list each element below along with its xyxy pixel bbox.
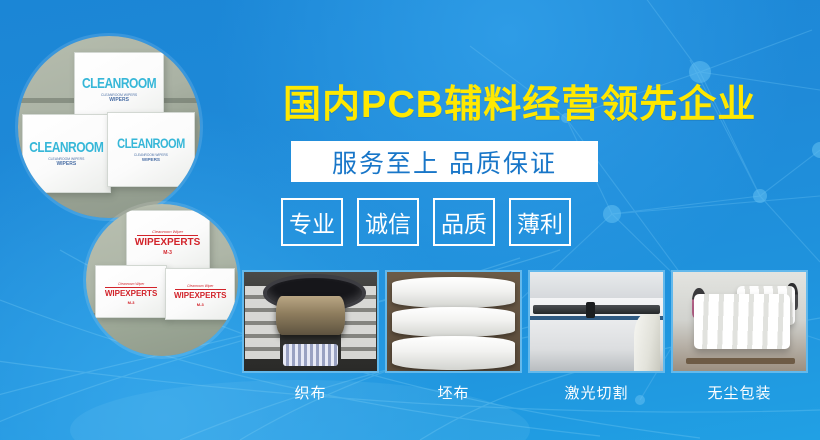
- pack-sub-label: Cleanroom Wiper: [118, 282, 144, 286]
- keyword-tag-zhuanye: 专业: [281, 198, 343, 246]
- banner-subtitle-bar: 服务至上 品质保证: [291, 141, 598, 182]
- fabric-roll: [392, 277, 514, 308]
- keyword-tag-pinzhi: 品质: [433, 198, 495, 246]
- pack-brand-label: WIPEXPERTS: [135, 237, 201, 248]
- wipe-pack: Cleanroom Wiper WIPEXPERTS M-3: [126, 210, 210, 273]
- fabric-roll: [392, 336, 514, 370]
- promo-banner: CLEANROOM CLEANROOM WIPERS WIPERS CLEANR…: [0, 0, 820, 440]
- cleanroom-packing-icon: [671, 270, 808, 373]
- keyword-tag-chengxin: 诚信: [357, 198, 419, 246]
- packed-bales-front: [694, 294, 790, 349]
- knitting-machine-icon: [242, 270, 379, 373]
- pack-rule: [137, 235, 198, 236]
- wipe-pack: CLEANROOM CLEANROOM WIPERS WIPERS: [22, 114, 111, 192]
- process-thumb-caption: 织布: [294, 382, 326, 403]
- keyword-tag-label: 诚信: [365, 205, 411, 239]
- laser-room-wall: [530, 272, 663, 298]
- pack-sub2-label: WIPERS: [56, 161, 76, 167]
- process-thumb-packing: 无尘包装: [671, 270, 808, 403]
- wipe-pack: Cleanroom Wiper WIPEXPERTS M-3: [95, 265, 167, 319]
- pack-brand-label: CLEANROOM: [29, 138, 103, 156]
- pack-sub-label: Cleanroom Wiper: [187, 284, 213, 288]
- knit-fabric-glow: [283, 344, 339, 366]
- fabric-roll: [392, 307, 514, 338]
- pack-sub-label: Cleanroom Wiper: [152, 229, 183, 234]
- laser-head: [586, 302, 595, 318]
- keyword-tag-label: 品质: [441, 205, 487, 239]
- laser-cutter-icon: [528, 270, 665, 373]
- pack-stamp-label: M-3: [163, 250, 172, 256]
- pack-brand-label: CLEANROOM: [117, 136, 185, 151]
- work-bench: [686, 358, 795, 364]
- keyword-tag-list: 专业 诚信 品质 薄利: [281, 198, 571, 246]
- pack-sub2-label: WIPERS: [142, 157, 160, 162]
- process-thumb-greige: 坯布: [385, 270, 522, 403]
- banner-subtitle: 服务至上 品质保证: [332, 144, 557, 180]
- pack-brand-label: CLEANROOM: [82, 75, 156, 93]
- pack-brand-label: WIPEXPERTS: [105, 289, 157, 298]
- pack-sub2-label: WIPERS: [109, 97, 129, 103]
- wipe-pack: Cleanroom Wiper WIPEXPERTS M-3: [165, 268, 235, 320]
- product-photo-wipexperts: Cleanroom Wiper WIPEXPERTS M-3 Cleanroom…: [86, 204, 238, 356]
- fabric-rolls-icon: [385, 270, 522, 373]
- pack-rule: [175, 289, 226, 290]
- wipe-pack: CLEANROOM CLEANROOM WIPERS WIPERS: [107, 112, 195, 187]
- pack-brand-label: WIPEXPERTS: [174, 291, 226, 300]
- process-thumb-caption: 坯布: [437, 382, 469, 403]
- product-photo-cleanroom: CLEANROOM CLEANROOM WIPERS WIPERS CLEANR…: [18, 36, 200, 218]
- process-thumb-laser: 激光切割: [528, 270, 665, 403]
- material-roll: [634, 314, 661, 371]
- process-thumb-caption: 激光切割: [564, 382, 628, 403]
- process-thumb-caption: 无尘包装: [707, 382, 771, 403]
- pack-stamp-label: M-3: [128, 300, 135, 305]
- process-thumb-weaving: 织布: [242, 270, 379, 403]
- keyword-tag-baoli: 薄利: [509, 198, 571, 246]
- pack-rule: [105, 287, 157, 288]
- keyword-tag-label: 专业: [289, 205, 335, 239]
- keyword-tag-label: 薄利: [517, 205, 563, 239]
- laser-gantry: [533, 305, 661, 314]
- banner-headline: 国内PCB辅料经营领先企业: [283, 73, 756, 128]
- knit-drum: [276, 296, 345, 336]
- process-thumbnail-strip: 织布 坯布 激光切割: [242, 270, 808, 403]
- pack-stamp-label: M-3: [197, 302, 204, 307]
